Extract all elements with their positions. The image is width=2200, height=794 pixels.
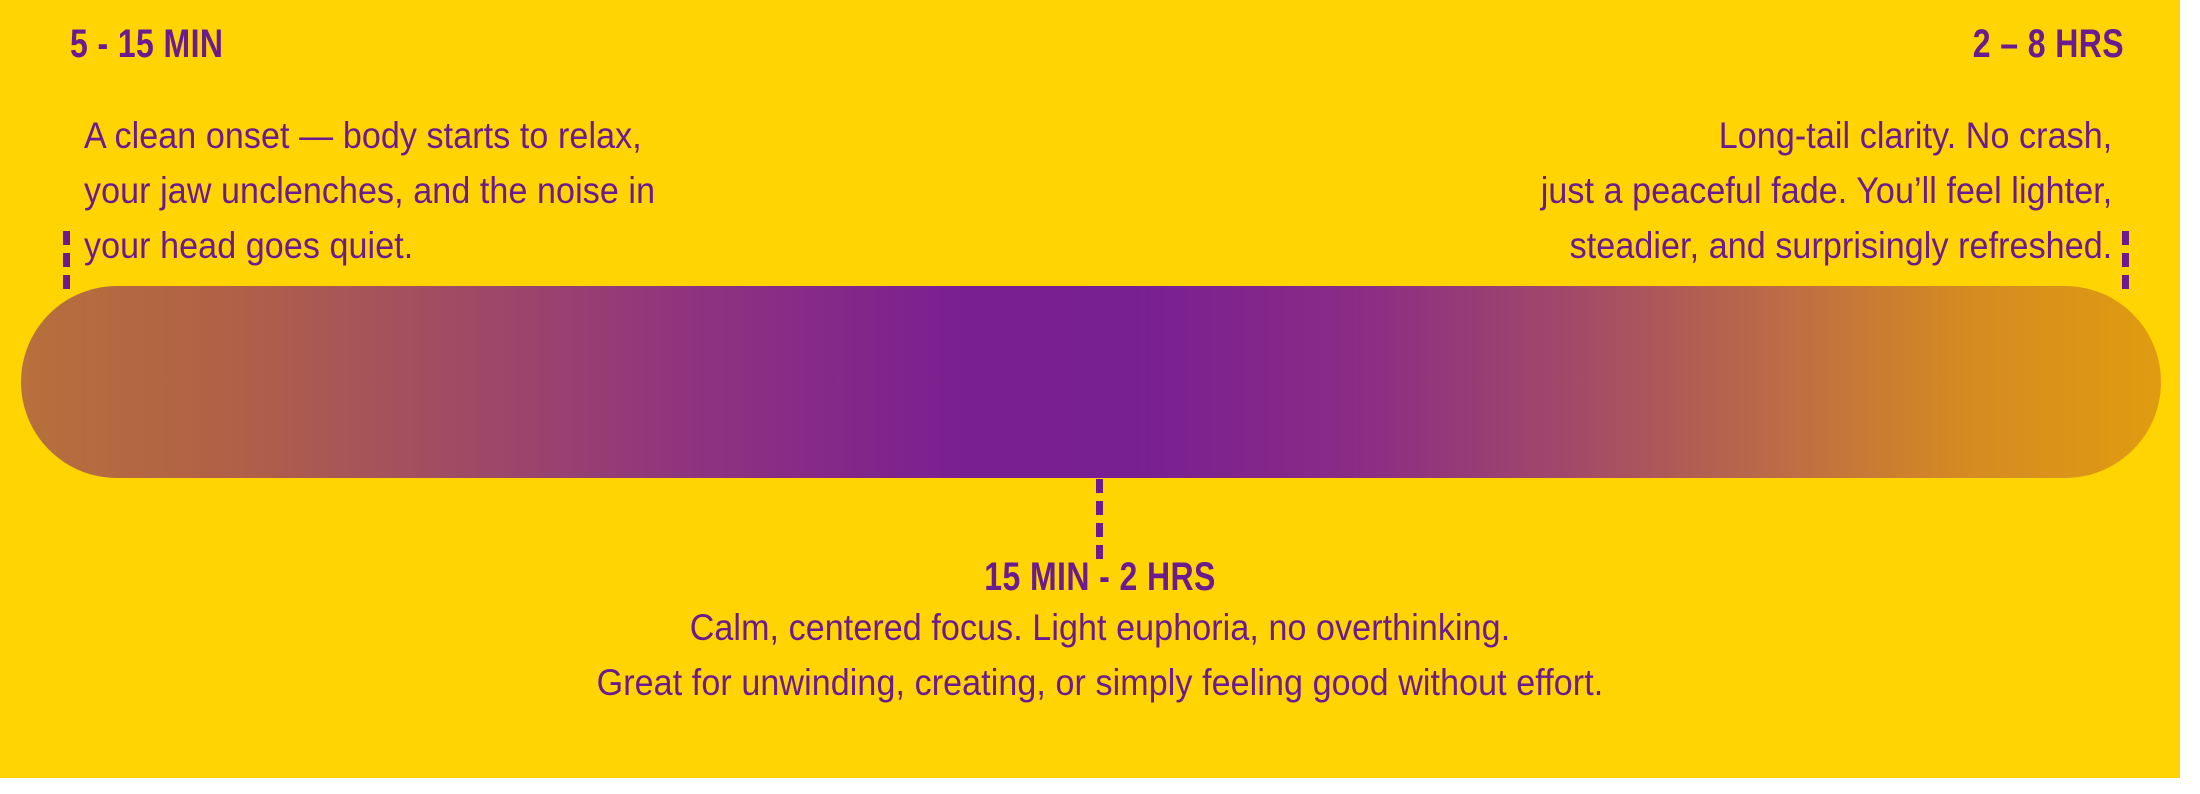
phase-label-peak: 15 MIN - 2 HRS (984, 557, 1215, 597)
phase-description-tail: Long-tail clarity. No crash, just a peac… (1540, 108, 2112, 273)
timeline-gradient-bar (21, 286, 2161, 478)
phase-label-tail: 2 – 8 HRS (1973, 24, 2124, 64)
infographic-canvas: 5 - 15 MIN A clean onset — body starts t… (0, 0, 2200, 794)
phase-label-onset: 5 - 15 MIN (70, 24, 223, 64)
dashed-connector-onset (63, 231, 70, 289)
phase-description-onset: A clean onset — body starts to relax, yo… (84, 108, 655, 273)
dashed-connector-peak (1096, 479, 1103, 559)
phase-description-peak: Calm, centered focus. Light euphoria, no… (597, 600, 1604, 710)
dashed-connector-tail (2122, 231, 2129, 289)
